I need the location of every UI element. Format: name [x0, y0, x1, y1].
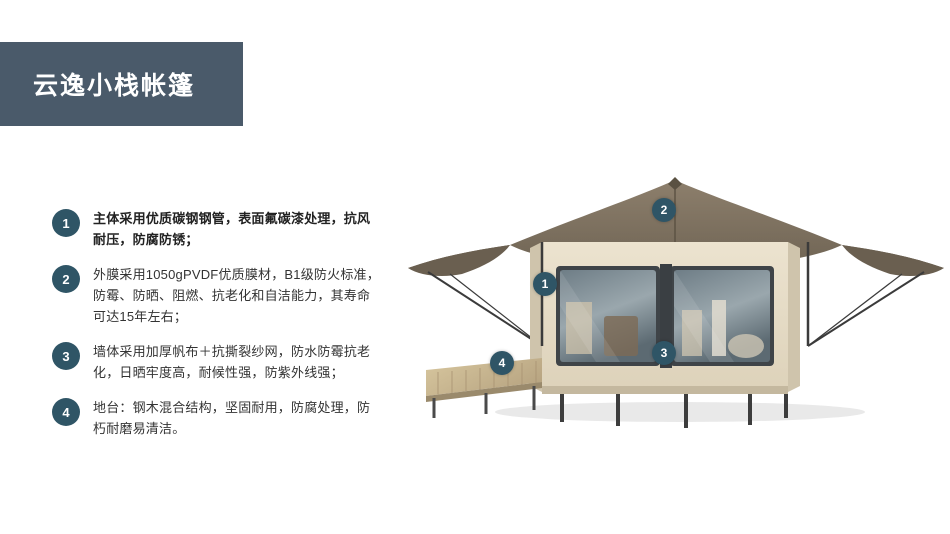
- callout-marker-4: 4: [490, 351, 514, 375]
- tent-photo: 1 2 3 4: [390, 150, 950, 450]
- list-item: 3 墙体采用加厚帆布＋抗撕裂纱网，防水防霉抗老化，日晒牢度高，耐候性强，防紫外线…: [52, 341, 382, 383]
- tension-cable-left: [428, 272, 542, 346]
- title-banner: 云逸小栈帐篷: [0, 42, 243, 126]
- callout-marker-2: 2: [652, 198, 676, 222]
- page-title: 云逸小栈帐篷: [33, 66, 195, 102]
- interior-plant-right: [728, 334, 764, 358]
- ground-shadow: [495, 402, 865, 422]
- feature-list: 1 主体采用优质碳钢钢管，表面氟碳漆处理，抗风耐压，防腐防锈； 2 外膜采用10…: [52, 208, 382, 453]
- list-item: 1 主体采用优质碳钢钢管，表面氟碳漆处理，抗风耐压，防腐防锈；: [52, 208, 382, 250]
- list-item: 2 外膜采用1050gPVDF优质膜材，B1级防火标准，防霉、防晒、阻燃、抗老化…: [52, 264, 382, 327]
- tension-cable-left-2: [450, 274, 542, 346]
- feature-badge-3: 3: [52, 342, 80, 370]
- feature-badge-1: 1: [52, 209, 80, 237]
- roof-wing-left-under: [408, 245, 510, 276]
- roof-wing-right-under: [842, 245, 944, 276]
- feature-text-3: 墙体采用加厚帆布＋抗撕裂纱网，防水防霉抗老化，日晒牢度高，耐候性强，防紫外线强；: [93, 341, 382, 383]
- feature-text-4: 地台：钢木混合结构，坚固耐用，防腐处理，防朽耐磨易清洁。: [93, 397, 382, 439]
- list-item: 4 地台：钢木混合结构，坚固耐用，防腐处理，防朽耐磨易清洁。: [52, 397, 382, 439]
- tension-cable-right-2: [808, 274, 902, 346]
- tent-illustration: [390, 150, 950, 450]
- tension-cable-right: [808, 272, 924, 346]
- slide-page: 云逸小栈帐篷 1 主体采用优质碳钢钢管，表面氟碳漆处理，抗风耐压，防腐防锈； 2…: [0, 0, 950, 534]
- feature-badge-2: 2: [52, 265, 80, 293]
- feature-text-1: 主体采用优质碳钢钢管，表面氟碳漆处理，抗风耐压，防腐防锈；: [93, 208, 382, 250]
- feature-badge-4: 4: [52, 398, 80, 426]
- callout-marker-3: 3: [652, 341, 676, 365]
- floor-band: [542, 386, 788, 394]
- callout-marker-1: 1: [533, 272, 557, 296]
- wall-side-right: [788, 242, 800, 392]
- feature-text-2: 外膜采用1050gPVDF优质膜材，B1级防火标准，防霉、防晒、阻燃、抗老化和自…: [93, 264, 382, 327]
